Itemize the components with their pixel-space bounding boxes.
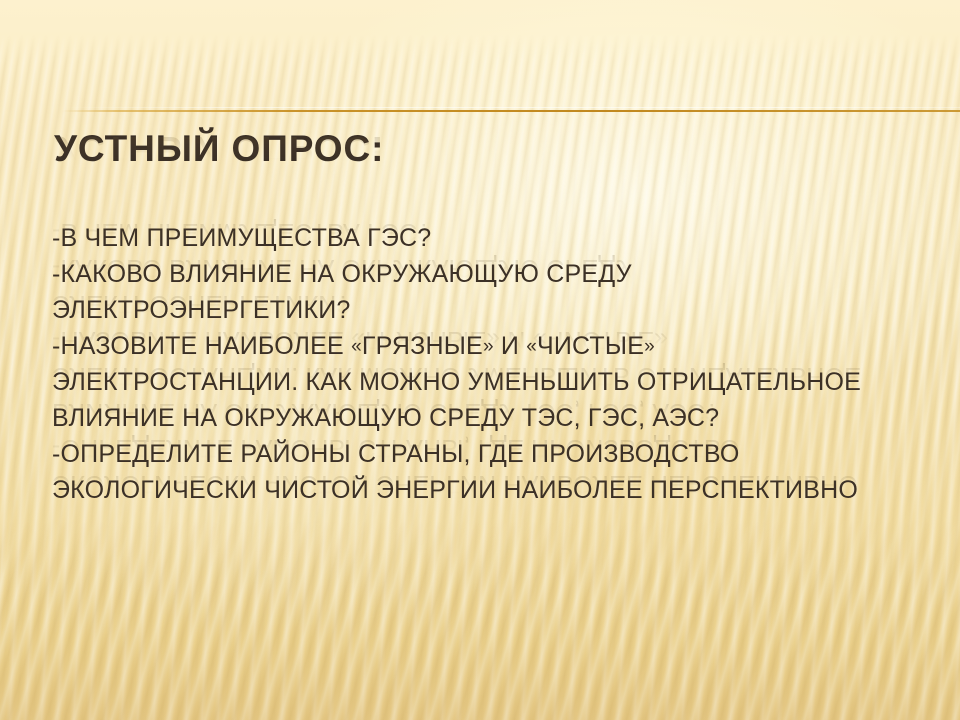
body-line: ЭЛЕКТРОЭНЕРГЕТИКИ? bbox=[52, 292, 952, 322]
body-line: -НАЗОВИТЕ НАИБОЛЕЕ «ГРЯЗНЫЕ» И «ЧИСТЫЕ» bbox=[52, 328, 952, 358]
body-line: -ОПРЕДЕЛИТЕ РАЙОНЫ СТРАНЫ, ГДЕ ПРОИЗВОДС… bbox=[52, 436, 952, 466]
slide-body: -В ЧЕМ ПРЕИМУЩЕСТВА ГЭС? -КАКОВО ВЛИЯНИЕ… bbox=[52, 220, 952, 502]
presentation-slide: УСТНЫЙ ОПРОС: -В ЧЕМ ПРЕИМУЩЕСТВА ГЭС? -… bbox=[0, 0, 960, 720]
body-line: ЭЛЕКТРОСТАНЦИИ. КАК МОЖНО УМЕНЬШИТЬ ОТРИ… bbox=[52, 364, 952, 394]
body-line: ЭКОЛОГИЧЕСКИ ЧИСТОЙ ЭНЕРГИИ НАИБОЛЕЕ ПЕР… bbox=[52, 472, 952, 502]
body-line: -В ЧЕМ ПРЕИМУЩЕСТВА ГЭС? bbox=[52, 220, 952, 250]
body-line: ВЛИЯНИЕ НА ОКРУЖАЮЩУЮ СРЕДУ ТЭС, ГЭС, АЭ… bbox=[52, 400, 952, 430]
slide-title: УСТНЫЙ ОПРОС: bbox=[54, 129, 384, 169]
body-line: -КАКОВО ВЛИЯНИЕ НА ОКРУЖАЮЩУЮ СРЕДУ bbox=[52, 256, 952, 286]
slide-text-layer: УСТНЫЙ ОПРОС: -В ЧЕМ ПРЕИМУЩЕСТВА ГЭС? -… bbox=[0, 0, 960, 720]
